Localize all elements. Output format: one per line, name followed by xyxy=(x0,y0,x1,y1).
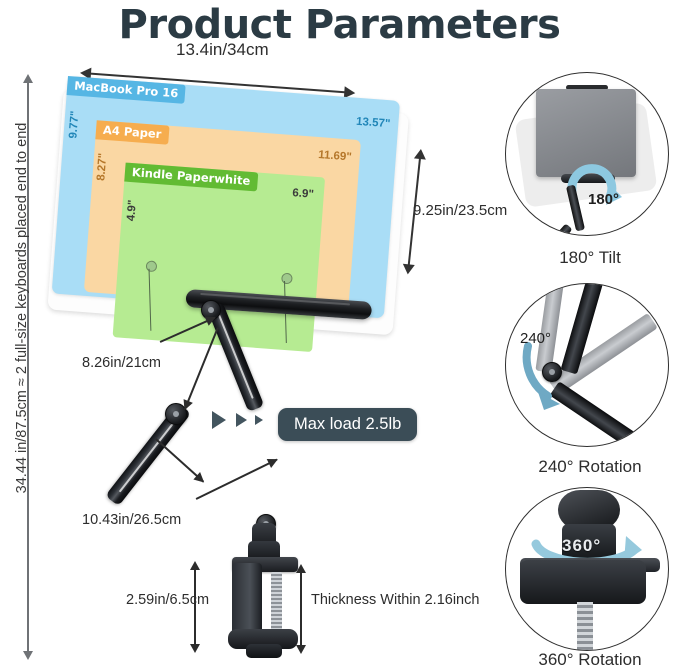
screen-width-label: 13.4in/34cm xyxy=(176,40,269,60)
rotation-240-label: 240° xyxy=(520,330,551,347)
grip-clip-left xyxy=(146,260,158,272)
clamp-height-label: 2.59in/6.5cm xyxy=(126,592,209,608)
feature-circle-rotation-240: 240° xyxy=(505,283,669,447)
lower-arm-label: 10.43in/26.5cm xyxy=(82,512,181,528)
device-a4: A4 Paper 11.69" 8.27" Kindle Paperwhite … xyxy=(84,120,361,311)
max-load-badge: Max load 2.5lb xyxy=(278,408,417,441)
clamp-thickness-arrow xyxy=(300,572,302,646)
feature-circle-tilt: 180° xyxy=(505,72,669,236)
feature-caption-rotation-360: 360° Rotation xyxy=(505,650,675,670)
grip-clip-right xyxy=(281,273,293,285)
arrow-triangle-3 xyxy=(255,415,263,425)
device-height-a4: 8.27" xyxy=(95,153,109,182)
device-height-kindle: 4.9" xyxy=(125,199,139,221)
tilt-arrow-icon xyxy=(506,73,668,235)
clamp-base-360 xyxy=(520,560,646,604)
device-height-macbook: 9.77" xyxy=(67,110,81,139)
lower-arm-leader-a xyxy=(155,438,204,482)
device-width-a4: 11.69" xyxy=(318,149,352,163)
arm-slot-lower xyxy=(118,417,178,493)
device-macbook: MacBook Pro 16 13.57" 9.77" A4 Paper 11.… xyxy=(52,76,400,318)
rotation-arrow-240-icon xyxy=(506,284,668,446)
arrow-triangle-2 xyxy=(236,413,247,427)
clamp-knob-lower xyxy=(246,644,282,658)
arrow-triangle-1 xyxy=(212,411,226,429)
clamp-screw xyxy=(271,572,282,634)
tilt-angle-label: 180° xyxy=(588,191,619,208)
device-label-kindle: Kindle Paperwhite xyxy=(124,163,258,192)
upper-arm-label: 8.26in/21cm xyxy=(82,355,161,371)
grip-stem-left xyxy=(149,269,152,331)
device-width-macbook: 13.57" xyxy=(356,116,391,131)
page-title: Product Parameters xyxy=(0,2,679,48)
device-width-kindle: 6.9" xyxy=(292,187,314,201)
screen-height-label: 9.25in/23.5cm xyxy=(413,202,507,219)
infographic-root: Product Parameters 34.44 in/87.5cm ≈ 2 f… xyxy=(0,0,679,670)
lower-arm-leader-b xyxy=(196,459,278,500)
overall-height-label: 34.44 in/87.5cm ≈ 2 full-size keyboards … xyxy=(14,58,30,558)
clamp-thickness-label: Thickness Within 2.16inch xyxy=(311,592,479,608)
clamp-screw-360 xyxy=(577,602,593,651)
joint-pin-middle xyxy=(173,411,179,417)
device-label-a4: A4 Paper xyxy=(95,120,169,144)
feature-circle-rotation-360: 360° xyxy=(505,487,669,651)
rotation-360-label: 360° xyxy=(562,536,601,556)
feature-caption-rotation-240: 240° Rotation xyxy=(505,457,675,477)
feature-caption-tilt: 180° Tilt xyxy=(505,248,675,268)
